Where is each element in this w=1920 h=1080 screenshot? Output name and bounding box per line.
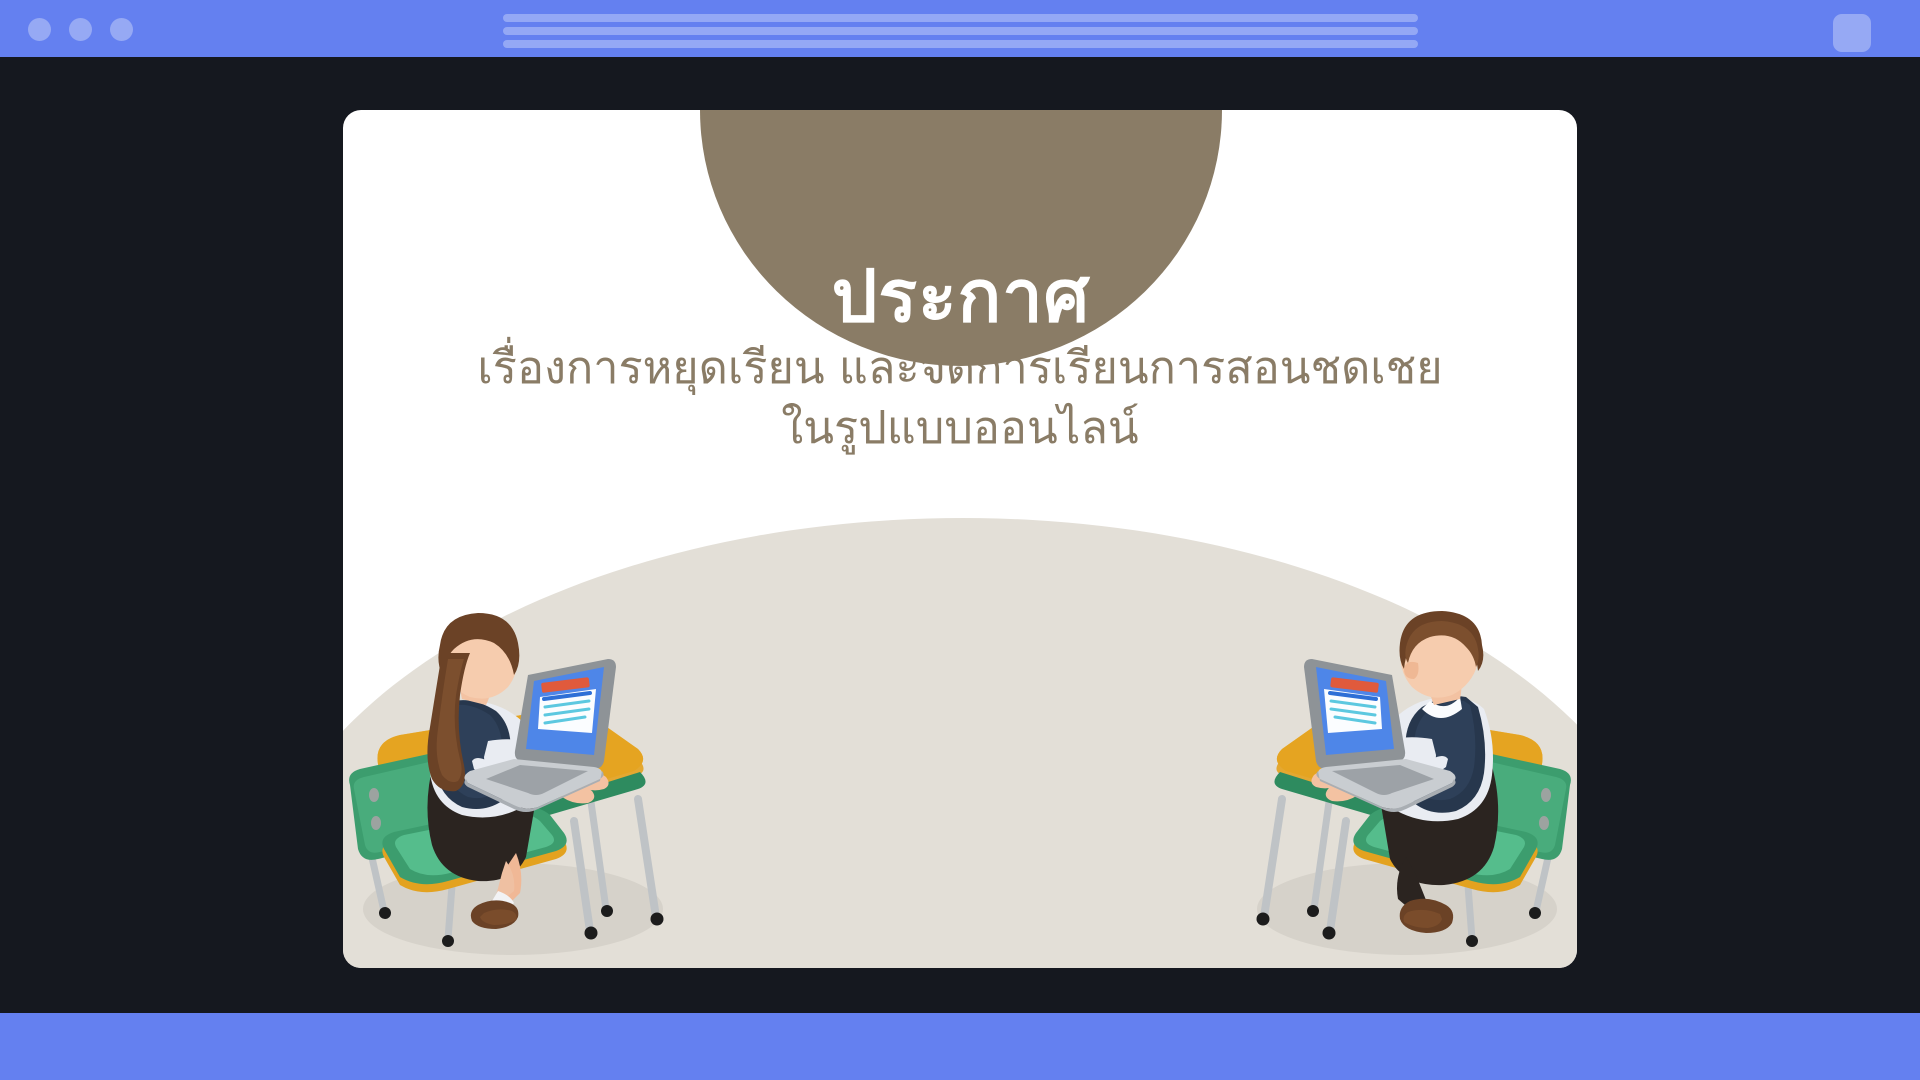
browser-title-bar <box>0 0 1920 57</box>
browser-footer-bar <box>0 1013 1920 1080</box>
app-root: ประกาศ เรื่องการหยุดเรียน และจัดการเรียน… <box>0 0 1920 1080</box>
traffic-light-group <box>28 18 133 41</box>
male-student-illustration <box>1232 609 1577 964</box>
close-dot-icon[interactable] <box>28 18 51 41</box>
minimize-dot-icon[interactable] <box>69 18 92 41</box>
subtitle-line-2: ในรูปแบบออนไลน์ <box>371 398 1549 458</box>
female-student-illustration <box>343 609 688 964</box>
maximize-dot-icon[interactable] <box>110 18 133 41</box>
page-title: ประกาศ <box>700 110 1222 366</box>
subtitle-line-1: เรื่องการหยุดเรียน และจัดการเรียนการสอนช… <box>477 341 1442 394</box>
address-line-2-icon <box>503 27 1418 35</box>
address-line-3-icon <box>503 40 1418 48</box>
address-bar-placeholder-lines[interactable] <box>503 14 1418 48</box>
address-line-1-icon <box>503 14 1418 22</box>
subtitle-block: เรื่องการหยุดเรียน และจัดการเรียนการสอนช… <box>343 338 1577 458</box>
window-square-icon[interactable] <box>1833 14 1871 52</box>
slide-card: ประกาศ เรื่องการหยุดเรียน และจัดการเรียน… <box>343 110 1577 968</box>
